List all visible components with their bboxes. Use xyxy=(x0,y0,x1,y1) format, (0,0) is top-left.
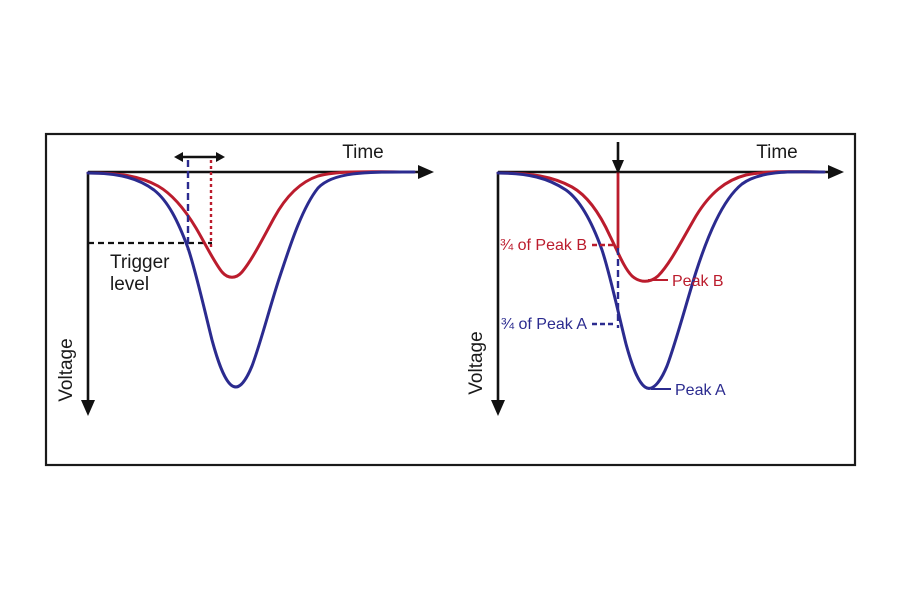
left-time-axis-label: Time xyxy=(342,142,384,163)
left-voltage-axis-label: Voltage xyxy=(56,338,77,401)
trigger-level-label-line2: level xyxy=(110,274,149,295)
three-quarter-peak-b-label: ¾ of Peak B xyxy=(500,237,587,254)
right-voltage-axis-label: Voltage xyxy=(466,331,487,394)
figure-root: Time Voltage Trigger level xyxy=(0,0,900,600)
diagram-canvas: Time Voltage Trigger level xyxy=(0,0,900,600)
figure-frame xyxy=(46,134,855,465)
three-quarter-peak-a-label: ¾ of Peak A xyxy=(501,316,588,333)
peak-a-label: Peak A xyxy=(675,382,726,399)
trigger-level-label-line1: Trigger xyxy=(110,252,170,273)
peak-b-label: Peak B xyxy=(672,273,724,290)
right-time-axis-label: Time xyxy=(756,142,798,163)
